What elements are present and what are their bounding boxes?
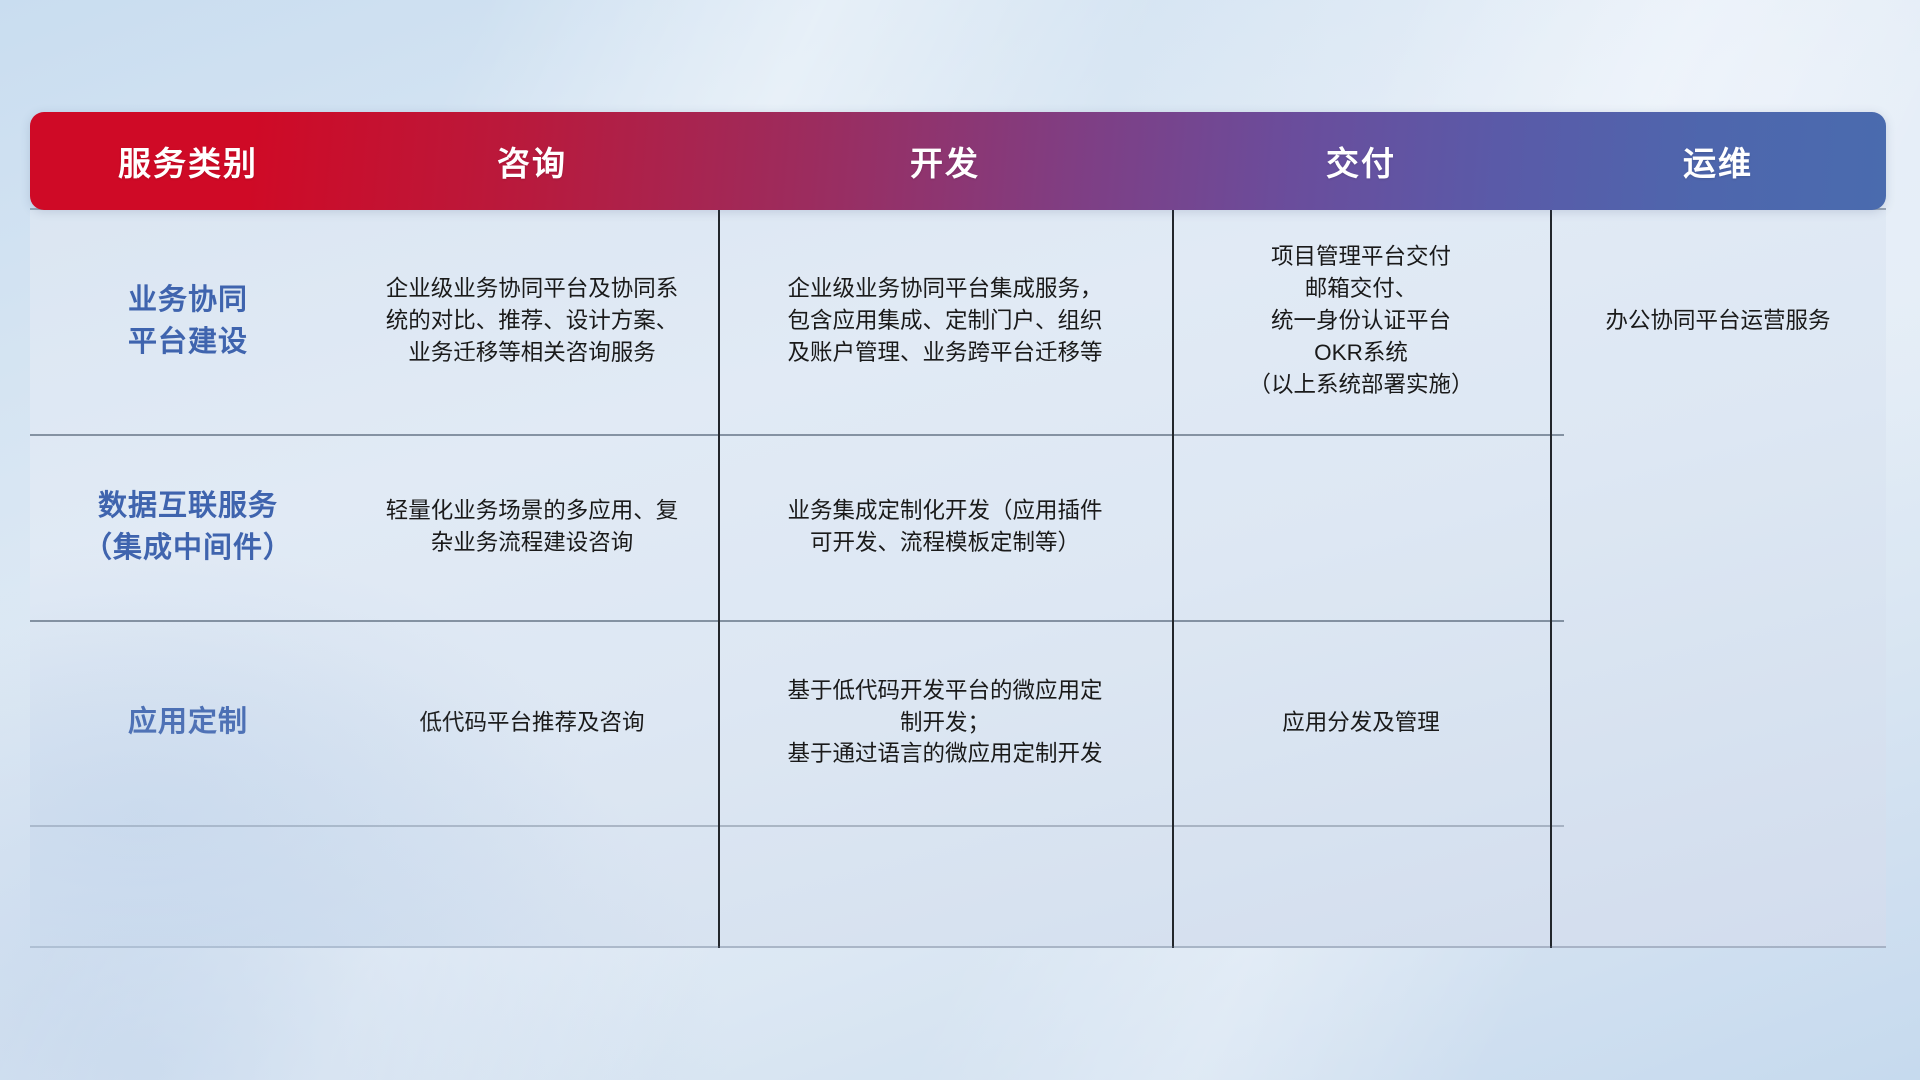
row-category-label: 应用定制 [30, 620, 346, 825]
row-category-label: 业务协同 平台建设 [30, 208, 346, 434]
column-header-development: 开发 [718, 112, 1172, 210]
column-header-consulting: 咨询 [346, 112, 718, 210]
row-divider-3 [30, 825, 1564, 827]
column-header-label: 服务类别 [118, 137, 258, 185]
column-header-operations: 运维 [1550, 112, 1886, 210]
cell-operations: 办公协同平台运营服务 [1550, 208, 1886, 434]
cell-consulting: 轻量化业务场景的多应用、复 杂业务流程建设咨询 [346, 434, 718, 620]
cell-operations [1550, 620, 1886, 825]
slide-canvas: 服务类别 咨询 开发 交付 运维 业务协同 平台建设 企业级业务协同平台及协同系… [0, 0, 1920, 1080]
table-bottom-divider [30, 946, 1886, 948]
table-row: 应用定制 低代码平台推荐及咨询 基于低代码开发平台的微应用定 制开发； 基于通过… [30, 620, 1886, 825]
column-divider-3 [1550, 208, 1552, 948]
row-category-label: 数据互联服务 （集成中间件） [30, 434, 346, 620]
column-header-label: 交付 [1326, 137, 1396, 185]
service-matrix-table: 服务类别 咨询 开发 交付 运维 业务协同 平台建设 企业级业务协同平台及协同系… [30, 112, 1886, 952]
cell-development: 基于低代码开发平台的微应用定 制开发； 基于通过语言的微应用定制开发 [718, 620, 1172, 825]
cell-delivery: 项目管理平台交付 邮箱交付、 统一身份认证平台 OKR系统 （以上系统部署实施） [1172, 208, 1550, 434]
column-header-label: 运维 [1683, 137, 1753, 185]
table-row: 数据互联服务 （集成中间件） 轻量化业务场景的多应用、复 杂业务流程建设咨询 业… [30, 434, 1886, 620]
column-header-label: 咨询 [497, 137, 567, 185]
row-divider-1 [30, 434, 1564, 436]
table-header-row: 服务类别 咨询 开发 交付 运维 [30, 112, 1886, 210]
row-divider-2 [30, 620, 1564, 622]
cell-development: 业务集成定制化开发（应用插件 可开发、流程模板定制等） [718, 434, 1172, 620]
cell-delivery [1172, 434, 1550, 620]
table-body: 业务协同 平台建设 企业级业务协同平台及协同系 统的对比、推荐、设计方案、 业务… [30, 208, 1886, 948]
cell-consulting: 企业级业务协同平台及协同系 统的对比、推荐、设计方案、 业务迁移等相关咨询服务 [346, 208, 718, 434]
cell-development: 企业级业务协同平台集成服务， 包含应用集成、定制门户、组织 及账户管理、业务跨平… [718, 208, 1172, 434]
table-row: 业务协同 平台建设 企业级业务协同平台及协同系 统的对比、推荐、设计方案、 业务… [30, 208, 1886, 434]
column-header-service-category: 服务类别 [30, 112, 346, 210]
cell-delivery: 应用分发及管理 [1172, 620, 1550, 825]
column-header-delivery: 交付 [1172, 112, 1550, 210]
column-divider-1 [718, 208, 720, 948]
column-divider-2 [1172, 208, 1174, 948]
cell-consulting: 低代码平台推荐及咨询 [346, 620, 718, 825]
column-header-label: 开发 [910, 137, 980, 185]
cell-operations [1550, 434, 1886, 620]
